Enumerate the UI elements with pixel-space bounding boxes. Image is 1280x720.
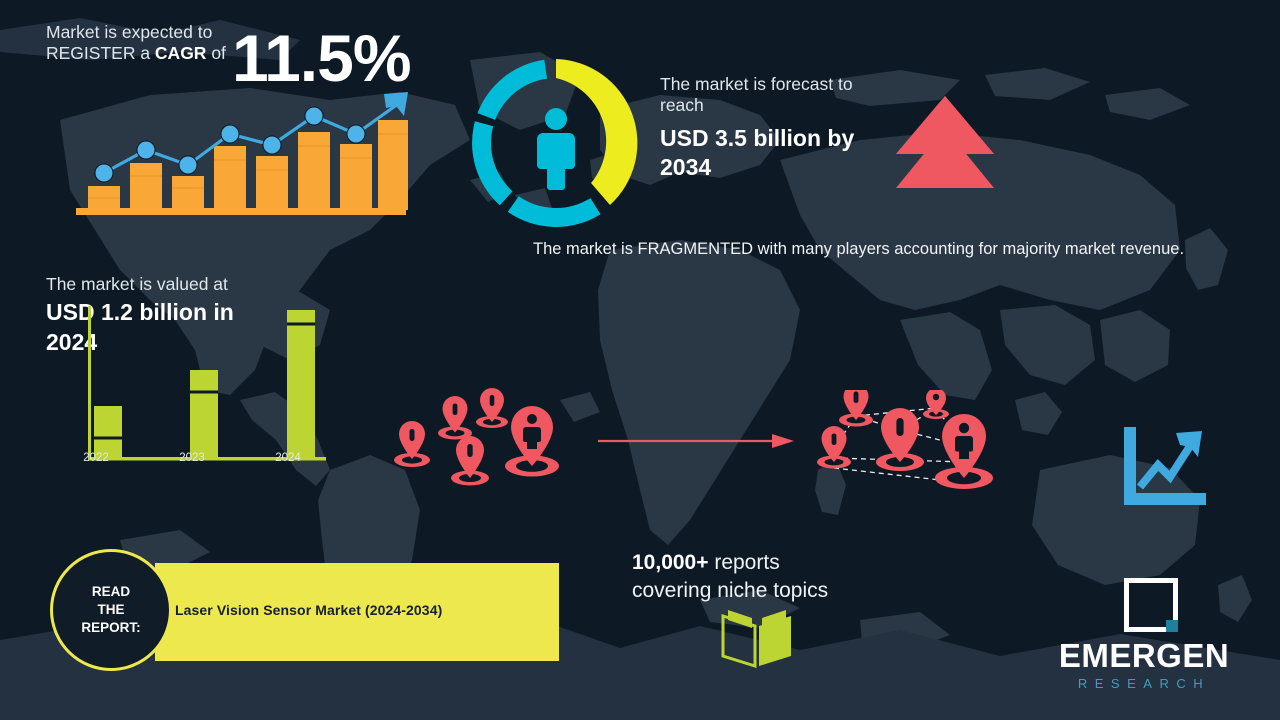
infographic-canvas: Market is expected to REGISTER a CAGR of…: [0, 0, 1280, 720]
donut-segment-cyan-3: [478, 60, 548, 120]
double-chevron-up-icon: [890, 92, 1000, 192]
growth-arrow-chart-icon: [1118, 425, 1208, 510]
cagr-label-line1: Market is expected to: [46, 22, 212, 42]
logo-subtitle: RESEARCH: [1036, 676, 1252, 691]
open-book-icon: [718, 606, 796, 668]
read-the-report-label: READ THE REPORT:: [81, 583, 140, 637]
cagr-keyword: CAGR: [155, 43, 207, 63]
year-label-2024: 2024: [258, 452, 318, 464]
square-bracket-logo-icon: [1122, 576, 1180, 634]
donut-segment-yellow: [556, 59, 637, 205]
bar-2024: [287, 310, 315, 460]
reports-line2: covering niche topics: [632, 579, 828, 602]
forecast-label: The market is forecast to reach: [660, 74, 900, 117]
cta-line3: REPORT:: [81, 620, 140, 635]
cagr-label-line2-post: of: [206, 43, 225, 63]
cagr-value: 11.5%: [232, 18, 411, 99]
cta-line2: THE: [97, 602, 124, 617]
market-share-donut: [468, 55, 644, 231]
donut-segment-cyan-1: [508, 196, 601, 227]
cagr-label-line2-pre: REGISTER a: [46, 43, 155, 63]
cta-line1: READ: [92, 584, 130, 599]
chart-axis-y: [88, 306, 91, 460]
right-arrow-icon: [596, 430, 796, 452]
read-the-report-button[interactable]: READ THE REPORT:: [50, 549, 172, 671]
year-label-2022: 2022: [66, 452, 126, 464]
person-icon: [537, 108, 575, 190]
connected-location-pin-network: [812, 390, 1012, 500]
year-label-2023: 2023: [162, 452, 222, 464]
donut-segment-cyan-2: [472, 121, 512, 205]
market-value-bar-chart: [82, 292, 332, 474]
scattered-location-pins: [385, 388, 580, 493]
growth-trend-bar-chart: [68, 88, 408, 218]
report-title-label: Laser Vision Sensor Market (2024-2034): [175, 602, 442, 618]
reports-count-text: 10,000+ reports covering niche topics: [632, 549, 892, 604]
logo-name: EMERGEN: [1036, 637, 1252, 675]
chart-baseline: [76, 208, 406, 215]
reports-suffix: reports: [709, 551, 780, 574]
bar-2023: [190, 370, 218, 460]
reports-count: 10,000+: [632, 551, 709, 574]
forecast-value: USD 3.5 billion by 2034: [660, 124, 890, 183]
fragmentation-text: The market is FRAGMENTED with many playe…: [533, 238, 1223, 262]
